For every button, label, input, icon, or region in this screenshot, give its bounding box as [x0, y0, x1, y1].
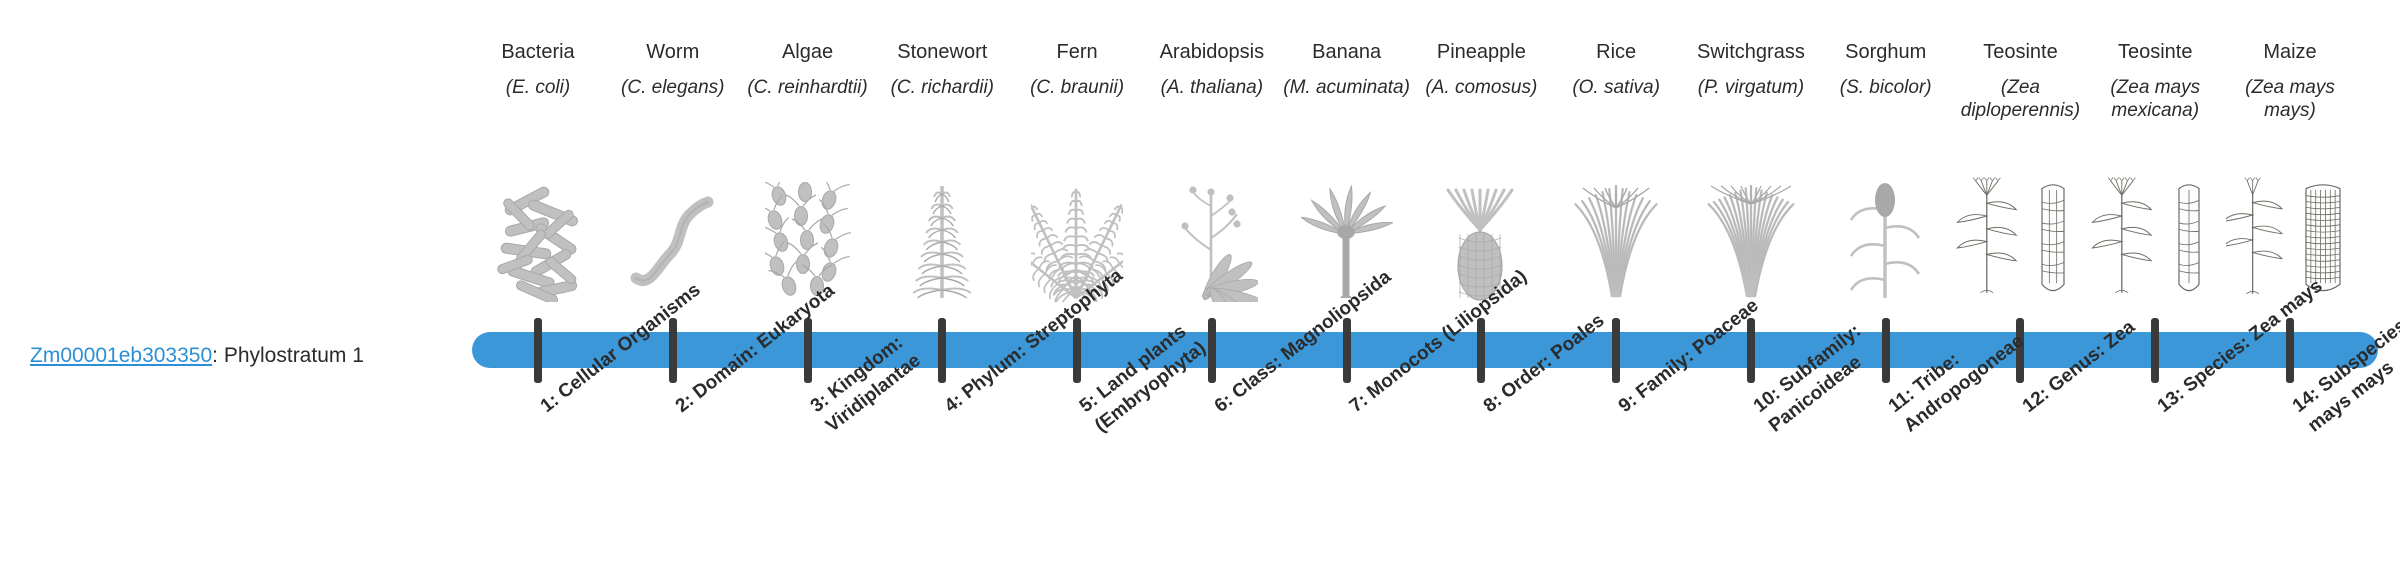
- species-scientific-name: (A. comosus): [1417, 76, 1545, 99]
- species-common-name: Bacteria: [474, 40, 602, 64]
- species-scientific-name: (E. coli): [474, 76, 602, 99]
- species-column: Teosinte(Zea diploperennis): [1956, 0, 2084, 122]
- species-column: Stonewort(C. richardii): [878, 0, 1006, 99]
- gene-separator: :: [212, 344, 224, 367]
- species-common-name: Teosinte: [1956, 40, 2084, 64]
- species-column: Arabidopsis(A. thaliana): [1148, 0, 1276, 99]
- species-common-name: Stonewort: [878, 40, 1006, 64]
- species-scientific-name: (C. reinhardtii): [744, 76, 872, 99]
- species-scientific-name: (C. richardii): [878, 76, 1006, 99]
- species-column: Banana(M. acuminata): [1283, 0, 1411, 99]
- phylostratum-tick[interactable]: [1747, 318, 1755, 383]
- gene-id-link[interactable]: Zm00001eb303350: [30, 344, 212, 367]
- species-common-name: Sorghum: [1822, 40, 1950, 64]
- phylostratum-tick[interactable]: [1612, 318, 1620, 383]
- species-column: Algae(C. reinhardtii): [744, 0, 872, 99]
- species-common-name: Banana: [1283, 40, 1411, 64]
- species-common-name: Switchgrass: [1687, 40, 1815, 64]
- species-column: Pineapple(A. comosus): [1417, 0, 1545, 99]
- gene-phylostratum-text: Phylostratum 1: [224, 344, 364, 367]
- species-scientific-name: (C. braunii): [1013, 76, 1141, 99]
- species-column: Maize(Zea mays mays): [2226, 0, 2354, 122]
- species-common-name: Algae: [744, 40, 872, 64]
- species-column: Worm(C. elegans): [609, 0, 737, 99]
- phylostratum-tick[interactable]: [669, 318, 677, 383]
- species-scientific-name: (Zea diploperennis): [1956, 76, 2084, 122]
- species-common-name: Teosinte: [2091, 40, 2219, 64]
- species-common-name: Rice: [1552, 40, 1680, 64]
- species-scientific-name: (Zea mays mays): [2226, 76, 2354, 122]
- species-column: Bacteria(E. coli): [474, 0, 602, 99]
- phylostratum-tick[interactable]: [2286, 318, 2294, 383]
- phylostratum-visualization: Zm00001eb303350: Phylostratum 1 Bacteria…: [0, 0, 2400, 580]
- species-common-name: Fern: [1013, 40, 1141, 64]
- species-column: Fern(C. braunii): [1013, 0, 1141, 99]
- species-common-name: Pineapple: [1417, 40, 1545, 64]
- bacteria-icon: [474, 172, 602, 302]
- phylostratum-tick[interactable]: [804, 318, 812, 383]
- species-scientific-name: (O. sativa): [1552, 76, 1680, 99]
- phylostratum-tick[interactable]: [534, 318, 542, 383]
- species-column: Teosinte(Zea mays mexicana): [2091, 0, 2219, 122]
- species-scientific-name: (Zea mays mexicana): [2091, 76, 2219, 122]
- species-scientific-name: (A. thaliana): [1148, 76, 1276, 99]
- phylostratum-tick[interactable]: [2151, 318, 2159, 383]
- gene-row-label: Zm00001eb303350: Phylostratum 1: [0, 343, 290, 369]
- track-area: Bacteria(E. coli)Worm(C. elegans)Algae(C…: [472, 0, 2378, 580]
- phylostratum-tick[interactable]: [1073, 318, 1081, 383]
- phylostratum-tick[interactable]: [1343, 318, 1351, 383]
- species-column: Switchgrass(P. virgatum): [1687, 0, 1815, 99]
- species-common-name: Worm: [609, 40, 737, 64]
- phylostratum-tick[interactable]: [1477, 318, 1485, 383]
- species-column: Sorghum(S. bicolor): [1822, 0, 1950, 99]
- species-common-name: Arabidopsis: [1148, 40, 1276, 64]
- species-common-name: Maize: [2226, 40, 2354, 64]
- species-scientific-name: (C. elegans): [609, 76, 737, 99]
- species-scientific-name: (S. bicolor): [1822, 76, 1950, 99]
- species-scientific-name: (P. virgatum): [1687, 76, 1815, 99]
- species-scientific-name: (M. acuminata): [1283, 76, 1411, 99]
- species-column: Rice(O. sativa): [1552, 0, 1680, 99]
